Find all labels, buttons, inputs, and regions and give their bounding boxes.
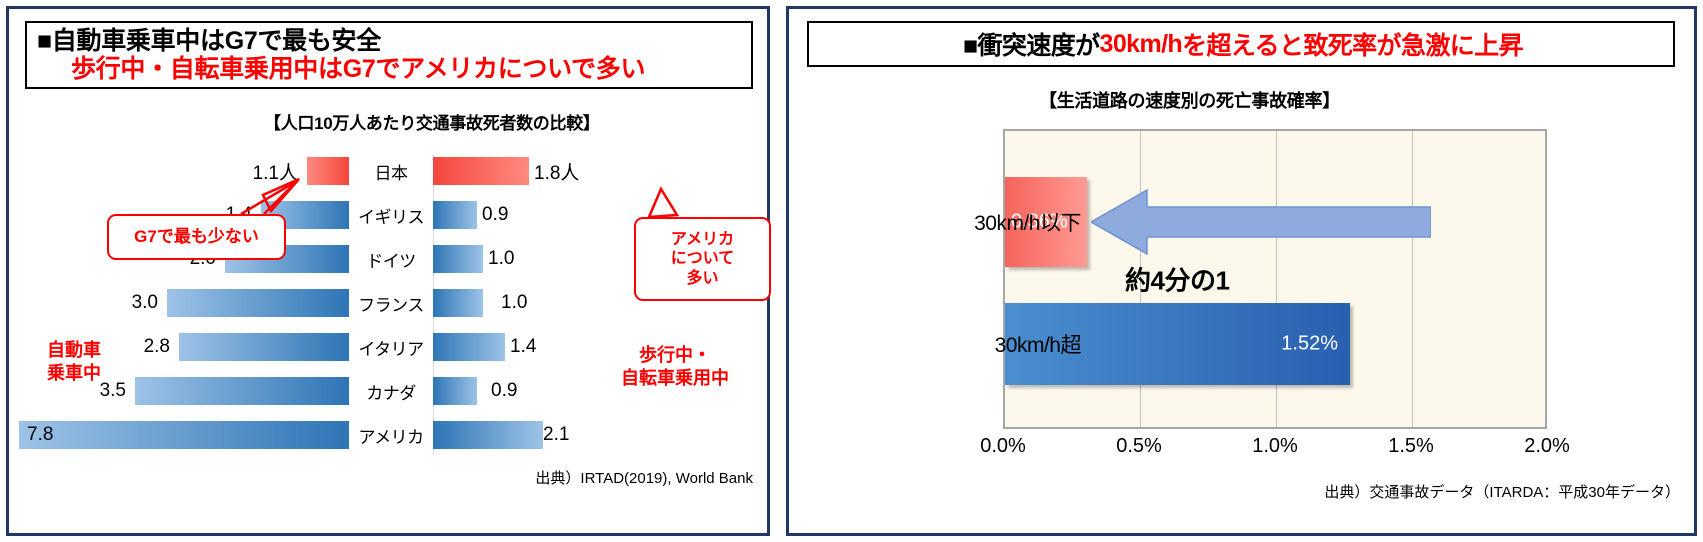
row-category-label: カナダ xyxy=(349,379,433,404)
row-right-bar xyxy=(433,245,483,273)
xtick-1: 0.5% xyxy=(1116,435,1162,458)
row-category-label: フランス xyxy=(349,291,433,316)
row-left-value: 7.8 xyxy=(27,424,53,446)
arrow-annotation-label: 約4分の1 xyxy=(1125,261,1229,298)
row-right-value: 0.9 xyxy=(491,380,517,402)
tornado-chart: 1.1人 日本 1.8人 1.4 イギリス 0.9 xyxy=(19,149,763,459)
row-left-bar-cell: 7.8 xyxy=(19,413,349,457)
right-source-note: 出典）交通事故データ（ITARDA：平成30年データ） xyxy=(1324,481,1680,502)
right-headline-box: ■衝突速度が 30km/h を超えると致死率が急激に上昇 xyxy=(807,21,1675,67)
row-right-bar-cell: 1.8人 xyxy=(433,149,763,193)
left-series-label-car-line1: 自動車 xyxy=(47,339,101,362)
callout-after-usa-line3: 多い xyxy=(671,269,735,288)
left-headline-line1: ■自動車乗車中はG7で最も安全 xyxy=(37,27,743,55)
ycat-over-30kmh: 30km/h超 xyxy=(995,329,1081,359)
row-right-value: 1.0 xyxy=(501,292,527,314)
row-left-bar xyxy=(19,421,349,449)
row-right-value: 0.9 xyxy=(482,204,508,226)
row-left-bar xyxy=(135,377,349,405)
row-left-bar xyxy=(307,157,349,185)
row-category-label: アメリカ xyxy=(349,423,433,448)
table-row: 7.8 アメリカ 2.1 xyxy=(19,413,763,457)
left-chart-subtitle: 【人口10万人あたり交通事故死者数の比較】 xyxy=(264,109,600,134)
xtick-4: 2.0% xyxy=(1524,435,1570,458)
row-category-label: イギリス xyxy=(349,203,433,228)
row-right-bar xyxy=(433,289,483,317)
callout-after-usa: アメリカ について 多い xyxy=(634,217,771,301)
row-category-label: イタリア xyxy=(349,335,433,360)
left-headline-box: ■自動車乗車中はG7で最も安全 歩行中・自転車乗用中はG7でアメリカについで多い xyxy=(25,21,753,89)
callout-g7-lowest: G7で最も少ない xyxy=(107,214,286,260)
row-right-value: 1.4 xyxy=(510,336,536,358)
row-right-bar xyxy=(433,201,477,229)
left-source-note: 出典）IRTAD(2019), World Bank xyxy=(535,467,753,488)
row-right-value: 1.0 xyxy=(488,248,514,270)
row-left-bar xyxy=(167,289,349,317)
bar-over-30kmh-value: 1.52% xyxy=(1281,333,1338,356)
left-series-label-car-line2: 乗車中 xyxy=(47,362,101,385)
table-row: 1.1人 日本 1.8人 xyxy=(19,149,763,193)
xtick-0: 0.0% xyxy=(980,435,1026,458)
right-headline-part1: ■衝突速度が xyxy=(963,26,1100,62)
left-arrow-icon xyxy=(1091,186,1431,258)
xtick-2: 1.0% xyxy=(1252,435,1298,458)
speed-fatality-chart: 0.36% 1.52% 約4分の1 30km/h以下 30km/h超 0.0% … xyxy=(1003,129,1643,429)
row-right-bar xyxy=(433,421,543,449)
row-right-bar xyxy=(433,157,529,185)
right-panel: ■衝突速度が 30km/h を超えると致死率が急激に上昇 【生活道路の速度別の死… xyxy=(786,6,1697,536)
row-right-bar xyxy=(433,333,505,361)
row-left-value: 3.5 xyxy=(100,380,126,402)
infographic-root: ■自動車乗車中はG7で最も安全 歩行中・自転車乗用中はG7でアメリカについで多い… xyxy=(0,0,1703,542)
callout-g7-lowest-text: G7で最も少ない xyxy=(130,227,263,247)
row-right-value: 1.8人 xyxy=(534,158,579,185)
row-left-value: 1.1人 xyxy=(253,158,298,185)
ycat-30kmh-or-less: 30km/h以下 xyxy=(974,207,1081,237)
row-category-label: 日本 xyxy=(349,159,433,184)
left-series-label-car: 自動車 乗車中 xyxy=(47,339,101,384)
left-series-label-ped-line2: 自転車乗用中 xyxy=(621,367,729,390)
callout-after-usa-line1: アメリカ xyxy=(671,230,735,249)
callout-after-usa-lines: アメリカ について 多い xyxy=(667,230,739,288)
left-series-label-ped: 歩行中・ 自転車乗用中 xyxy=(621,344,729,389)
left-series-label-ped-line1: 歩行中・ xyxy=(621,344,729,367)
row-left-bar-cell: 3.0 xyxy=(19,281,349,325)
right-headline-part3: を超えると致死率が急激に上昇 xyxy=(1182,26,1523,62)
row-left-bar xyxy=(179,333,349,361)
row-category-label: ドイツ xyxy=(349,247,433,272)
left-panel: ■自動車乗車中はG7で最も安全 歩行中・自転車乗用中はG7でアメリカについで多い… xyxy=(6,6,770,536)
callout-after-usa-line2: について xyxy=(671,249,735,268)
row-right-bar-cell: 2.1 xyxy=(433,413,763,457)
xtick-3: 1.5% xyxy=(1388,435,1434,458)
row-left-value: 3.0 xyxy=(132,292,158,314)
row-left-value: 2.8 xyxy=(144,336,170,358)
right-headline-part2: 30km/h xyxy=(1100,30,1183,59)
row-right-bar xyxy=(433,377,477,405)
right-chart-subtitle: 【生活道路の速度別の死亡事故確率】 xyxy=(1039,87,1340,113)
gridline xyxy=(1412,131,1413,427)
plot-area: 0.36% 1.52% 約4分の1 xyxy=(1003,129,1547,429)
left-headline-line2: 歩行中・自転車乗用中はG7でアメリカについで多い xyxy=(37,55,743,83)
row-right-value: 2.1 xyxy=(543,424,569,446)
row-left-bar-cell: 1.1人 xyxy=(19,149,349,193)
